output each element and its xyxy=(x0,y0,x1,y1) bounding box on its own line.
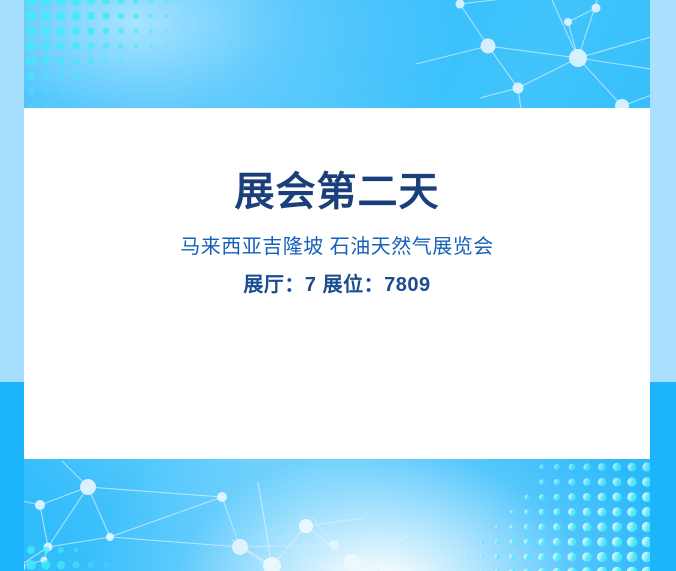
booth-info: 展厅：7 展位：7809 xyxy=(243,273,430,297)
event-subtitle: 马来西亚吉隆坡 石油天然气展览会 xyxy=(180,235,494,259)
right-band-top xyxy=(650,0,676,382)
page-title: 展会第二天 xyxy=(235,170,440,215)
left-band-top xyxy=(0,0,24,382)
right-band-bottom xyxy=(650,382,676,571)
poster-canvas: 展会第二天 马来西亚吉隆坡 石油天然气展览会 展厅：7 展位：7809 xyxy=(0,0,676,571)
content-card: 展会第二天 马来西亚吉隆坡 石油天然气展览会 展厅：7 展位：7809 xyxy=(24,108,650,459)
left-band-bottom xyxy=(0,382,24,571)
